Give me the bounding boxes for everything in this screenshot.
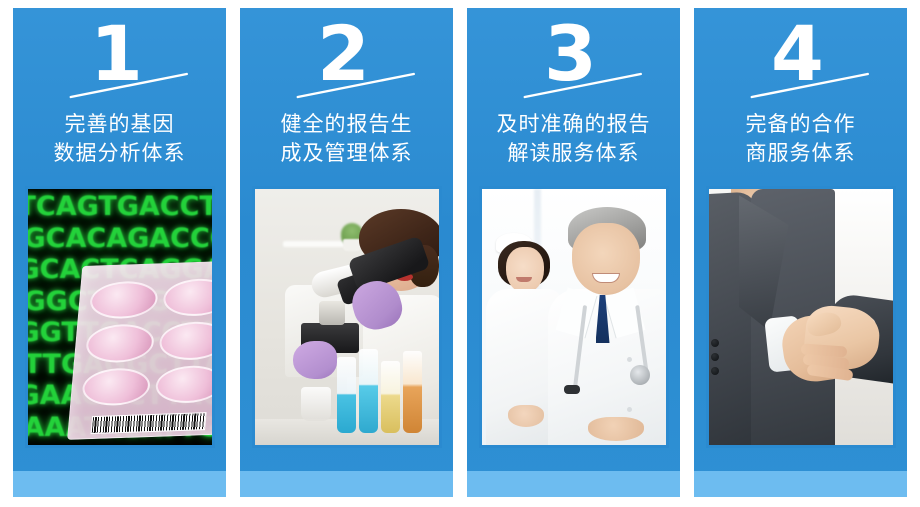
card-3-photo-frame [479,186,669,448]
stethoscope-clip [564,385,580,394]
test-tube-orange [403,351,422,433]
card-3-bottom-strip [467,471,680,497]
stethoscope-bell [630,365,650,385]
test-tube-blue-1 [337,357,356,433]
card-1-title: 完善的基因 数据分析体系 [25,110,215,168]
coat-button-upper [627,357,632,362]
diagonal-slash-icon [68,70,190,100]
doctor-nurse-photo [482,189,666,445]
infographic-banner: 1 完善的基因 数据分析体系 TCAGTGACCTTA GCACAGACCCAA… [0,0,920,507]
card-3-title: 及时准确的报告 解读服务体系 [479,110,669,168]
microscope-objective [319,301,345,325]
handshake-fingers [799,345,861,375]
card-4-number-block: 4 [694,8,907,104]
feature-card-list: 1 完善的基因 数据分析体系 TCAGTGACCTTA GCACAGACCCAA… [0,0,920,507]
card-1-bottom-strip [13,471,226,497]
card-3-number-block: 3 [467,8,680,104]
doctor-hands [588,417,644,441]
doctor-face [572,223,640,295]
feature-card-2[interactable]: 2 健全的报告生 成及管理体系 [240,8,453,497]
plate-barcode-label [90,412,206,434]
sleeve-buttons [711,339,735,371]
dna-sequence-well-plate-photo: TCAGTGACCTTA GCACAGACCCAA GCACTCAGGAGA G… [28,189,212,445]
card-3-title-line-2: 解读服务体系 [479,139,669,168]
microscope-scientist-photo [255,189,439,445]
diagonal-slash-icon [749,70,871,100]
card-4-title-line-2: 商服务体系 [706,139,896,168]
card-2-title-line-1: 健全的报告生 [252,110,442,139]
lab-plant-pot [343,239,361,251]
feature-card-3[interactable]: 3 及时准确的报告 解读服务体系 [467,8,680,497]
diagonal-slash-icon [522,70,644,100]
card-2-title-line-2: 成及管理体系 [252,139,442,168]
test-tube-blue-2 [359,349,378,433]
card-3-title-line-1: 及时准确的报告 [479,110,669,139]
card-1-photo-frame: TCAGTGACCTTA GCACAGACCCAA GCACTCAGGAGA G… [25,186,215,448]
card-1-number-block: 1 [13,8,226,104]
diagonal-slash-icon [295,70,417,100]
feature-card-4[interactable]: 4 完备的合作 商服务体系 [694,8,907,497]
card-4-title-line-1: 完备的合作 [706,110,896,139]
nurse-smile [516,277,532,282]
card-2-title: 健全的报告生 成及管理体系 [252,110,442,168]
card-2-photo-frame [252,186,442,448]
lab-flask [301,387,331,421]
card-2-bottom-strip [240,471,453,497]
feature-card-1[interactable]: 1 完善的基因 数据分析体系 TCAGTGACCTTA GCACAGACCCAA… [13,8,226,497]
card-2-number-block: 2 [240,8,453,104]
card-4-photo-frame [706,186,896,448]
business-handshake-photo [709,189,893,445]
nurse-face [506,247,544,293]
coat-button-lower [627,407,632,412]
card-1-title-line-2: 数据分析体系 [25,139,215,168]
purple-glove-lower [293,341,337,379]
nurse-hands [508,405,544,427]
card-4-bottom-strip [694,471,907,497]
card-4-title: 完备的合作 商服务体系 [706,110,896,168]
test-tube-yellow [381,361,400,433]
plate-wells [80,278,211,407]
cell-culture-plate [67,260,212,440]
card-1-title-line-1: 完善的基因 [25,110,215,139]
